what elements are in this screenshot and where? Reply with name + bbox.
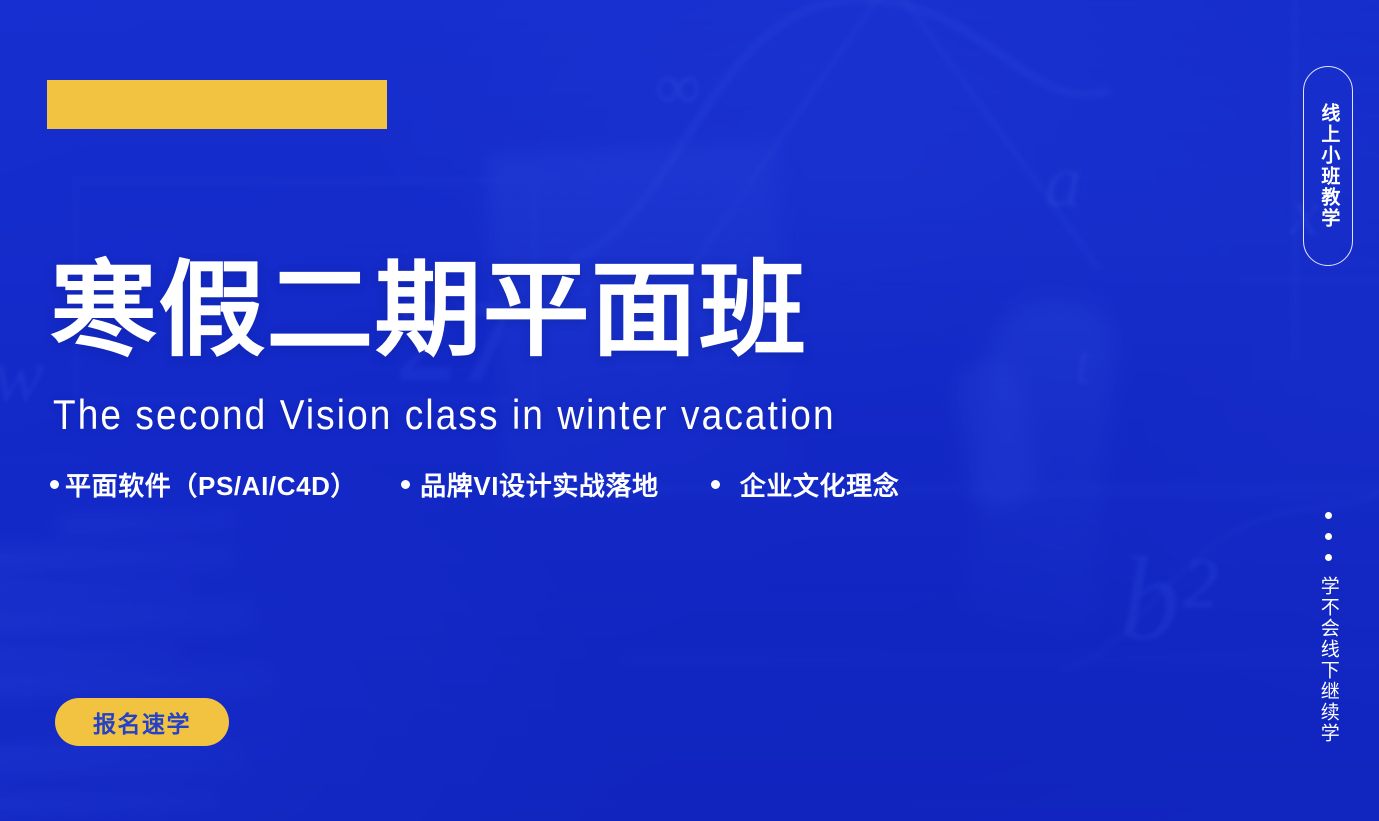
- list-item: 平面软件（PS/AI/C4D）: [50, 466, 357, 503]
- slogan-dot-1: [1325, 512, 1332, 519]
- slogan-dots-icon: [1325, 512, 1332, 561]
- bullet-dot-icon: [711, 480, 720, 489]
- page-subtitle: The second Vision class in winter vacati…: [53, 392, 836, 439]
- enroll-button[interactable]: 报名速学: [55, 698, 229, 746]
- list-item: 企业文化理念: [711, 466, 900, 503]
- accent-bar: [47, 80, 387, 129]
- status-badge-label: 线上小班教学: [1313, 103, 1344, 229]
- poster-content: 寒假二期平面班 The second Vision class in winte…: [0, 0, 1379, 821]
- bullet-dot-icon: [50, 480, 59, 489]
- feature-label: 品牌VI设计实战落地: [420, 466, 659, 503]
- slogan-dot-3: [1325, 554, 1332, 561]
- status-badge: 线上小班教学: [1303, 66, 1353, 266]
- slogan-label: 学不会线下继续学: [1313, 576, 1342, 744]
- page-title: 寒假二期平面班: [50, 256, 807, 366]
- feature-label: 平面软件（PS/AI/C4D）: [65, 466, 357, 503]
- list-item: 品牌VI设计实战落地: [401, 466, 659, 503]
- bullet-dot-icon: [401, 480, 410, 489]
- feature-list: 平面软件（PS/AI/C4D） 品牌VI设计实战落地 企业文化理念: [50, 466, 899, 503]
- poster-canvas: a b² x w 27 ∞ t 寒假二期平面班 The second Visio…: [0, 0, 1379, 821]
- slogan-block: 学不会线下继续学: [1303, 512, 1353, 744]
- slogan-dot-2: [1325, 533, 1332, 540]
- feature-label: 企业文化理念: [740, 466, 900, 503]
